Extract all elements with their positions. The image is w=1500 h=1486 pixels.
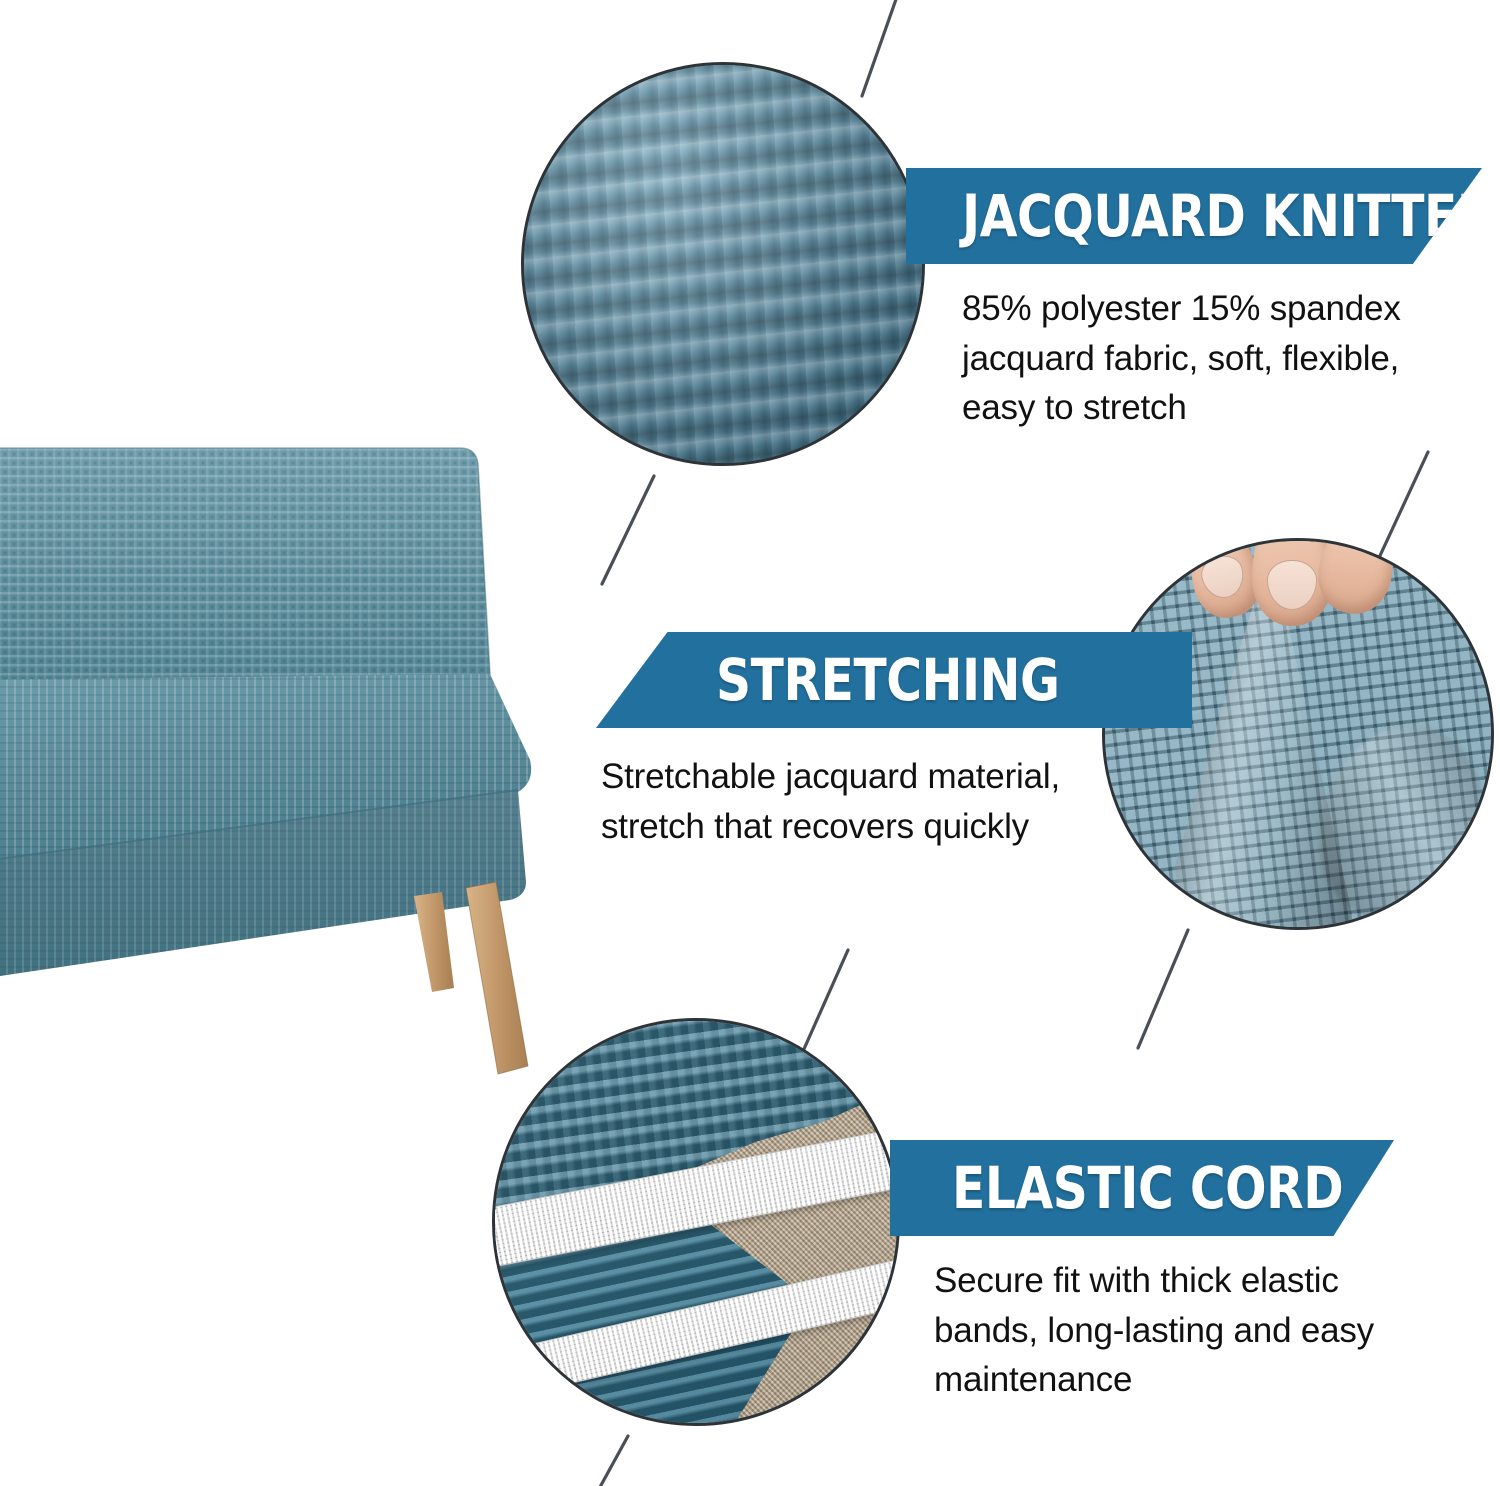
sofa-photo: [0, 430, 550, 1110]
feature-description-jacquard-knitted: 85% polyester 15% spandex jacquard fabri…: [962, 284, 1462, 433]
feature-photo-elastic-cord: [492, 1018, 900, 1426]
connector-line-elastic-lower: [594, 1436, 628, 1486]
feature-banner-stretching: STRETCHING: [596, 632, 1192, 728]
description-line: Secure fit with thick elastic: [934, 1256, 1434, 1306]
feature-title-jacquard-knitted: JACQUARD KNITTED: [962, 182, 1497, 250]
connector-line-jacquard: [602, 476, 654, 584]
feature-banner-jacquard-knitted: JACQUARD KNITTED: [906, 168, 1482, 264]
description-line: jacquard fabric, soft, flexible,: [962, 334, 1462, 384]
connector-line-stretching-lower: [1138, 930, 1188, 1048]
infographic-canvas: JACQUARD KNITTED 85% polyester 15% spand…: [0, 0, 1500, 1486]
feature-photo-stretching: [1102, 538, 1494, 930]
description-line: easy to stretch: [962, 383, 1462, 433]
description-line: bands, long-lasting and easy: [934, 1306, 1434, 1356]
description-line: stretch that recovers quickly: [601, 802, 1121, 852]
feature-title-elastic-cord: ELASTIC CORD: [952, 1154, 1343, 1222]
description-line: 85% polyester 15% spandex: [962, 284, 1462, 334]
feature-banner-elastic-cord: ELASTIC CORD: [890, 1140, 1394, 1236]
feature-title-stretching: STRETCHING: [716, 646, 1060, 714]
description-line: maintenance: [934, 1355, 1434, 1405]
feature-photo-jacquard-knitted: [521, 62, 925, 466]
feature-description-elastic-cord: Secure fit with thick elastic bands, lon…: [934, 1256, 1434, 1405]
feature-description-stretching: Stretchable jacquard material, stretch t…: [601, 752, 1121, 851]
description-line: Stretchable jacquard material,: [601, 752, 1121, 802]
